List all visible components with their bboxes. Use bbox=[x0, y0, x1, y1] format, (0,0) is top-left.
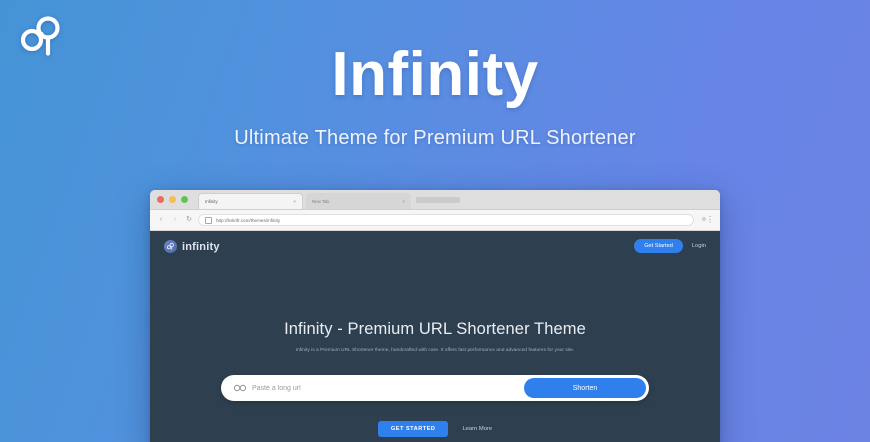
browser-tab-new[interactable]: New Tab × bbox=[306, 193, 411, 209]
browser-tab-active[interactable]: Infinity × bbox=[198, 193, 303, 209]
tab-strip-filler bbox=[416, 197, 460, 203]
lock-icon bbox=[205, 217, 212, 224]
shorten-form: Shorten bbox=[221, 375, 649, 401]
site-viewport: infinity Get Started Login Infinity - Pr… bbox=[150, 231, 720, 442]
site-logo[interactable]: infinity bbox=[164, 240, 220, 253]
site-hero: Infinity - Premium URL Shortener Theme I… bbox=[150, 261, 720, 437]
headline-block: Infinity Ultimate Theme for Premium URL … bbox=[0, 40, 870, 150]
address-bar[interactable]: http://linkrift.com/themes/infinity bbox=[198, 214, 694, 226]
site-header: infinity Get Started Login bbox=[150, 231, 720, 261]
minimize-window-button[interactable] bbox=[169, 196, 176, 203]
shorten-input-wrap bbox=[224, 378, 524, 398]
window-controls bbox=[157, 196, 188, 203]
forward-icon[interactable]: › bbox=[170, 215, 180, 225]
page-subtitle: Ultimate Theme for Premium URL Shortener bbox=[0, 126, 870, 150]
site-logo-text: infinity bbox=[182, 241, 220, 253]
hero-subtitle: Infinity is a Premium URL Shortener them… bbox=[235, 347, 635, 354]
hero-title: Infinity - Premium URL Shortener Theme bbox=[150, 319, 720, 339]
cta-row: GET STARTED Learn More bbox=[150, 421, 720, 437]
maximize-window-button[interactable] bbox=[181, 196, 188, 203]
login-link[interactable]: Login bbox=[692, 243, 706, 249]
url-input[interactable] bbox=[252, 385, 524, 392]
tab-label: Infinity bbox=[205, 199, 290, 204]
close-window-button[interactable] bbox=[157, 196, 164, 203]
address-bar-url: http://linkrift.com/themes/infinity bbox=[216, 218, 280, 223]
close-icon[interactable]: × bbox=[402, 199, 405, 204]
menu-icon[interactable]: ⋮ bbox=[706, 214, 714, 226]
learn-more-link[interactable]: Learn More bbox=[462, 426, 492, 432]
page-title: Infinity bbox=[0, 40, 870, 110]
get-started-cta-button[interactable]: GET STARTED bbox=[378, 421, 449, 437]
link-icon bbox=[234, 384, 246, 392]
get-started-button[interactable]: Get Started bbox=[634, 239, 683, 253]
site-nav: Get Started Login bbox=[634, 239, 706, 253]
back-icon[interactable]: ‹ bbox=[156, 215, 166, 225]
shorten-button[interactable]: Shorten bbox=[524, 378, 646, 398]
browser-mockup: Infinity × New Tab × ‹ › ↻ http://linkri… bbox=[150, 190, 720, 442]
promo-banner: Infinity Ultimate Theme for Premium URL … bbox=[0, 0, 870, 442]
tab-label: New Tab bbox=[312, 199, 399, 204]
infinity-badge-icon bbox=[164, 240, 177, 253]
browser-tabbar: Infinity × New Tab × bbox=[150, 190, 720, 210]
reload-icon[interactable]: ↻ bbox=[184, 215, 194, 225]
browser-toolbar: ‹ › ↻ http://linkrift.com/themes/infinit… bbox=[150, 210, 720, 231]
close-icon[interactable]: × bbox=[293, 199, 296, 204]
